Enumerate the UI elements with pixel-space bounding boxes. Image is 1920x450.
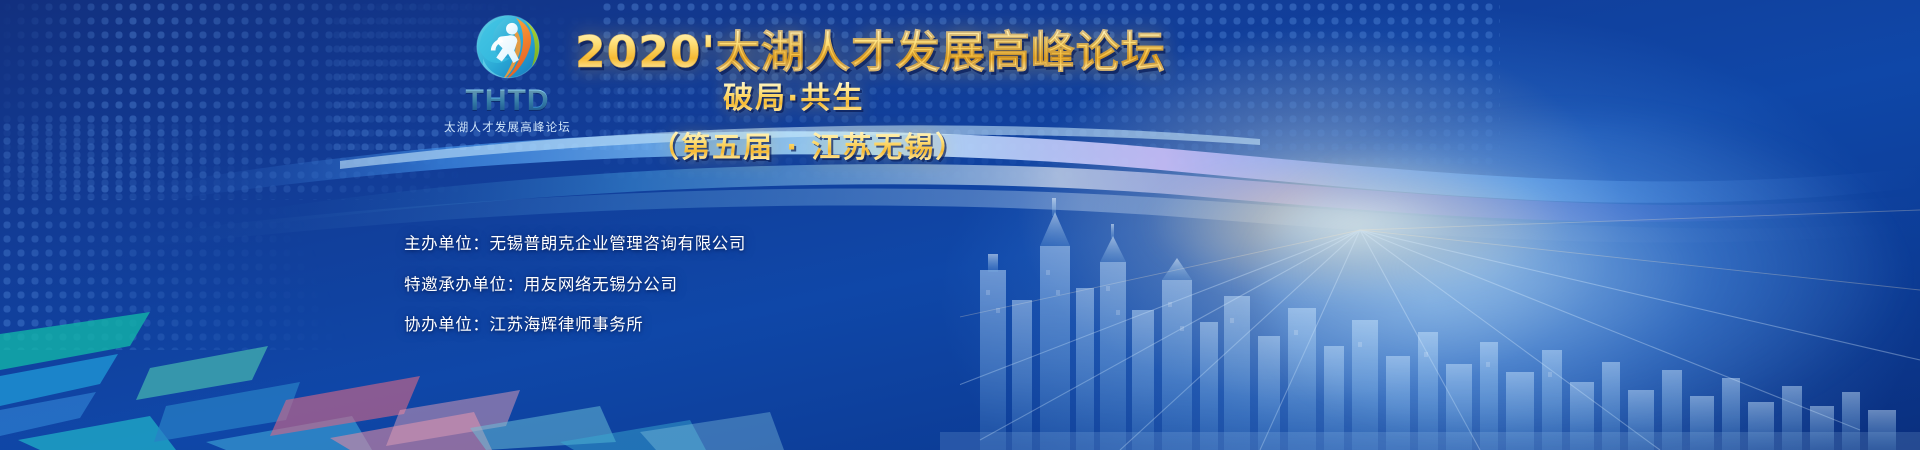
warm-glow-icon (1140, 150, 1570, 300)
event-banner: THTD 太湖人才发展高峰论坛 2020'太湖人才发展高峰论坛 破局·共生 （第… (0, 0, 1920, 450)
cool-glow-icon (1260, 120, 1900, 450)
light-rays-icon (960, 150, 1920, 450)
main-title: 2020'太湖人才发展高峰论坛 (575, 28, 1166, 77)
logo-wordmark: THTD (405, 86, 610, 116)
organizer-list: 主办单位：无锡普朗克企业管理咨询有限公司 特邀承办单位：用友网络无锡分公司 协办… (404, 236, 746, 334)
light-ribbons-icon (0, 95, 1920, 275)
logo-subtitle: 太湖人才发展高峰论坛 (405, 119, 610, 135)
thtd-emblem-icon (469, 10, 547, 88)
sub-title: 破局·共生 (723, 82, 864, 117)
edition-location: （第五届 · 江苏无锡） (650, 131, 966, 164)
organizer-line: 特邀承办单位：用友网络无锡分公司 (404, 277, 746, 294)
organizer-line: 主办单位：无锡普朗克企业管理咨询有限公司 (404, 236, 746, 253)
organizer-line: 协办单位：江苏海辉律师事务所 (404, 317, 746, 334)
city-skyline-icon (940, 150, 1920, 450)
dot-matrix-icon (0, 120, 420, 350)
